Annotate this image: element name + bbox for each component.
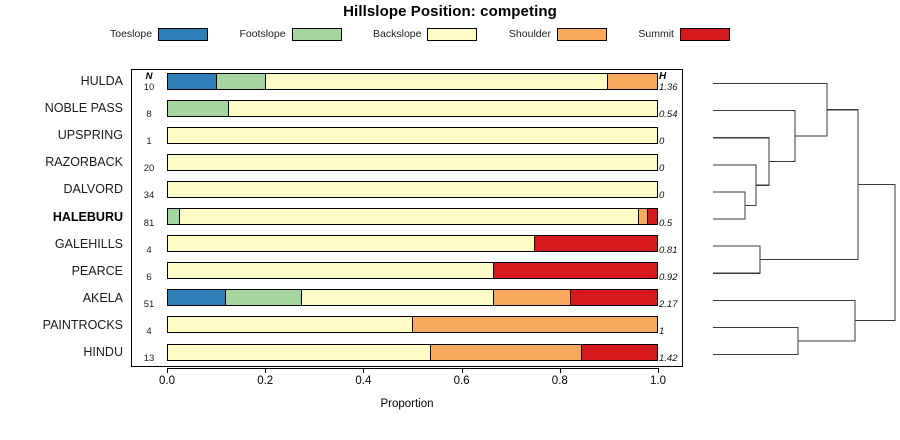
bar-segment-footslope[interactable] <box>217 74 266 89</box>
bar-paintrocks[interactable] <box>167 316 658 333</box>
dendro-merge-akela <box>713 300 855 341</box>
category-label: UPSPRING <box>58 122 123 149</box>
legend-label-backslope: Backslope <box>373 28 421 40</box>
bar-segment-summit[interactable] <box>648 209 657 224</box>
bar-segment-backslope[interactable] <box>302 290 494 305</box>
dendro-merge-upper-cluster <box>760 110 858 260</box>
bar-segment-footslope[interactable] <box>226 290 303 305</box>
n-value: 34 <box>133 190 165 201</box>
bar-segment-toeslope[interactable] <box>168 74 217 89</box>
n-value: 8 <box>133 109 165 120</box>
h-value: 1.42 <box>659 353 685 364</box>
bar-segment-shoulder[interactable] <box>608 74 657 89</box>
bar-akela[interactable] <box>167 289 658 306</box>
x-tick <box>167 368 168 373</box>
legend-item-shoulder: Shoulder <box>509 28 607 41</box>
bar-razorback[interactable] <box>167 154 658 171</box>
x-axis-line <box>167 368 658 369</box>
x-tick <box>560 368 561 373</box>
bar-segment-footslope[interactable] <box>168 209 180 224</box>
x-tick-label: 0.4 <box>355 375 371 387</box>
legend-swatch-toeslope <box>158 28 208 41</box>
n-column: N 10812034814651413 <box>133 69 165 367</box>
dendro-merge-upspring <box>713 138 769 186</box>
n-value: 4 <box>133 245 165 256</box>
bar-segment-summit[interactable] <box>535 236 657 251</box>
bar-noble-pass[interactable] <box>167 100 658 117</box>
h-value: 0.54 <box>659 109 685 120</box>
x-tick <box>363 368 364 373</box>
category-label: HULDA <box>81 68 123 95</box>
n-value: 4 <box>133 326 165 337</box>
n-value: 1 <box>133 136 165 147</box>
x-tick <box>658 368 659 373</box>
n-value: 10 <box>133 82 165 93</box>
bar-hulda[interactable] <box>167 73 658 90</box>
stacked-bars <box>167 69 658 367</box>
bar-hindu[interactable] <box>167 344 658 361</box>
legend-label-summit: Summit <box>638 28 674 40</box>
bar-segment-backslope[interactable] <box>180 209 639 224</box>
legend: Toeslope Footslope Backslope Shoulder Su… <box>110 24 730 44</box>
legend-swatch-shoulder <box>557 28 607 41</box>
h-column-header: H <box>659 71 685 82</box>
legend-swatch-summit <box>680 28 730 41</box>
dendro-merge-hulda <box>713 84 827 137</box>
h-value: 0.81 <box>659 245 685 256</box>
dendro-merge-noblepass <box>713 111 795 162</box>
chart-root: Hillslope Position: competing Toeslope F… <box>0 0 900 440</box>
bar-segment-backslope[interactable] <box>168 155 657 170</box>
legend-item-backslope: Backslope <box>373 28 477 41</box>
bar-segment-summit[interactable] <box>582 345 657 360</box>
bar-segment-backslope[interactable] <box>266 74 608 89</box>
x-tick <box>462 368 463 373</box>
bar-segment-backslope[interactable] <box>168 128 657 143</box>
category-axis-labels: HULDANOBLE PASSUPSPRINGRAZORBACKDALVORDH… <box>0 69 127 367</box>
n-value: 20 <box>133 163 165 174</box>
x-tick-label: 0.8 <box>552 375 568 387</box>
n-column-header: N <box>133 71 165 82</box>
n-value: 13 <box>133 353 165 364</box>
x-tick-label: 0.2 <box>257 375 273 387</box>
h-value: 1 <box>659 326 685 337</box>
legend-swatch-backslope <box>427 28 477 41</box>
category-label: HINDU <box>83 339 123 366</box>
bar-segment-shoulder[interactable] <box>413 317 658 332</box>
bar-segment-footslope[interactable] <box>168 101 229 116</box>
dendro-merge-razorback <box>713 165 756 206</box>
bar-segment-shoulder[interactable] <box>639 209 648 224</box>
h-value: 0 <box>659 136 685 147</box>
legend-label-footslope: Footslope <box>239 28 285 40</box>
bar-segment-summit[interactable] <box>494 263 657 278</box>
legend-item-summit: Summit <box>638 28 730 41</box>
bar-pearce[interactable] <box>167 262 658 279</box>
bar-galehills[interactable] <box>167 235 658 252</box>
bar-upspring[interactable] <box>167 127 658 144</box>
legend-swatch-footslope <box>292 28 342 41</box>
h-value: 0 <box>659 190 685 201</box>
bar-segment-backslope[interactable] <box>168 263 494 278</box>
bar-segment-shoulder[interactable] <box>494 290 571 305</box>
bar-haleburu[interactable] <box>167 208 658 225</box>
x-tick-label: 0.0 <box>159 375 175 387</box>
n-value: 51 <box>133 299 165 310</box>
bar-dalvord[interactable] <box>167 181 658 198</box>
page-title: Hillslope Position: competing <box>0 3 900 20</box>
category-label: RAZORBACK <box>45 149 123 176</box>
bar-segment-toeslope[interactable] <box>168 290 226 305</box>
legend-item-footslope: Footslope <box>239 28 341 41</box>
legend-item-toeslope: Toeslope <box>110 28 208 41</box>
category-label: NOBLE PASS <box>45 95 123 122</box>
x-tick <box>265 368 266 373</box>
bar-segment-backslope[interactable] <box>229 101 657 116</box>
category-label: AKELA <box>83 284 123 311</box>
category-label: DALVORD <box>63 176 123 203</box>
x-axis-title: Proportion <box>131 398 683 410</box>
h-value: 0 <box>659 163 685 174</box>
dendro-merge-galehills-pearce <box>713 246 760 273</box>
h-value: 0.5 <box>659 218 685 229</box>
legend-label-shoulder: Shoulder <box>509 28 551 40</box>
category-label: PAINTROCKS <box>43 311 123 338</box>
legend-label-toeslope: Toeslope <box>110 28 152 40</box>
dendro-root-merge <box>855 185 895 321</box>
dendrogram <box>690 69 900 367</box>
x-tick-label: 1.0 <box>650 375 666 387</box>
category-label: GALEHILLS <box>55 230 123 257</box>
category-label: HALEBURU <box>53 203 123 230</box>
bar-segment-backslope[interactable] <box>168 345 431 360</box>
bar-segment-backslope[interactable] <box>168 182 657 197</box>
x-tick-label: 0.6 <box>454 375 470 387</box>
h-value: 0.92 <box>659 272 685 283</box>
dendro-merge-dalvord-haleburu <box>713 192 745 219</box>
bar-segment-backslope[interactable] <box>168 317 413 332</box>
bar-segment-backslope[interactable] <box>168 236 535 251</box>
dendro-merge-paintrocks-hindu <box>713 327 798 354</box>
h-value: 1.36 <box>659 82 685 93</box>
n-value: 6 <box>133 272 165 283</box>
bar-segment-shoulder[interactable] <box>431 345 582 360</box>
bar-segment-summit[interactable] <box>571 290 657 305</box>
n-value: 81 <box>133 218 165 229</box>
h-column: H 1.360.540000.50.810.922.1711.42 <box>659 69 685 367</box>
dendrogram-svg <box>690 69 900 367</box>
category-label: PEARCE <box>72 257 123 284</box>
h-value: 2.17 <box>659 299 685 310</box>
